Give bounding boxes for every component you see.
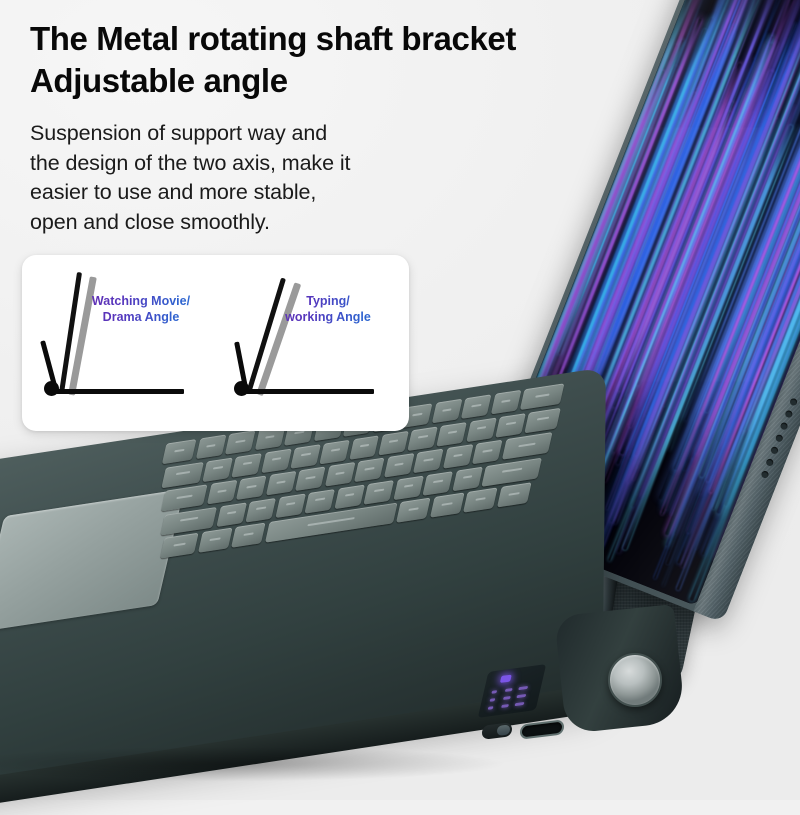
keyboard-key[interactable] (472, 440, 503, 465)
keyboard-key[interactable] (225, 430, 256, 455)
label-movie-line2: Drama Angle (103, 310, 180, 324)
keyboard-key[interactable] (160, 533, 199, 559)
keyboard-key[interactable] (363, 480, 394, 505)
backlight-glyph (491, 690, 497, 694)
marketing-copy: The Metal rotating shaft bracket Adjusta… (30, 18, 650, 237)
backlight-glyph (503, 696, 511, 700)
keyboard-key[interactable] (216, 502, 247, 527)
body-line-1: Suspension of support way and (30, 119, 650, 149)
keyboard-key[interactable] (236, 475, 267, 500)
keyboard-key[interactable] (354, 458, 385, 483)
keyboard-base (0, 367, 606, 801)
keyboard-key[interactable] (413, 449, 444, 474)
keyboard-key[interactable] (198, 528, 233, 553)
diagram-typing-working-angle: Typing/ working Angle (218, 255, 408, 431)
keyboard-key[interactable] (378, 430, 408, 455)
body-line-2: the design of the two axis, make it (30, 149, 650, 179)
label-typing-working-angle: Typing/ working Angle (253, 293, 403, 325)
keyboard-key[interactable] (275, 493, 306, 518)
keyboard-key[interactable] (430, 492, 465, 517)
heading-line-2: Adjustable angle (30, 60, 650, 102)
power-switch[interactable] (482, 722, 512, 740)
keyboard-key[interactable] (195, 435, 226, 460)
label-typing-line2: working Angle (285, 310, 371, 324)
keyboard-key[interactable] (495, 413, 525, 438)
backlight-glyph (515, 702, 525, 706)
label-watching-movie-angle: Watching Movie/ Drama Angle (66, 293, 216, 325)
backlight-glyph (501, 704, 509, 708)
label-movie-line1: Watching Movie/ (92, 294, 190, 308)
shaft-end-cap (608, 653, 662, 707)
keyboard-key[interactable] (203, 457, 233, 482)
product-feature-banner: The Metal rotating shaft bracket Adjusta… (0, 0, 800, 800)
backlight-glyph (488, 706, 494, 710)
body-line-4: open and close smoothly. (30, 208, 650, 238)
keyboard-key[interactable] (295, 466, 326, 491)
keyboard-key[interactable] (490, 390, 521, 415)
keyboard-key[interactable] (408, 426, 438, 451)
keyboard-key[interactable] (520, 383, 565, 410)
keyboard-key[interactable] (466, 417, 496, 442)
power-switch-nub (497, 724, 510, 736)
keyboard-key[interactable] (431, 399, 462, 424)
keyboard-key[interactable] (461, 394, 492, 419)
body-copy: Suspension of support way and the design… (30, 119, 650, 237)
keyboard-key[interactable] (349, 435, 379, 460)
body-line-3: easier to use and more stable, (30, 178, 650, 208)
keyboard-key[interactable] (452, 466, 483, 491)
keyboard-key[interactable] (206, 480, 237, 505)
keyboard-key[interactable] (245, 497, 276, 522)
keyboard-key[interactable] (497, 482, 532, 507)
keyboard-key[interactable] (463, 487, 498, 512)
angle-diagram-card: Watching Movie/ Drama Angle Typing/ work… (22, 255, 409, 431)
label-typing-line1: Typing/ (306, 294, 350, 308)
keyboard-key[interactable] (231, 523, 266, 548)
keyboard-key[interactable] (162, 439, 197, 464)
keyboard-key[interactable] (422, 471, 453, 496)
keyboard-key[interactable] (334, 484, 365, 509)
keyboard-key[interactable] (525, 407, 561, 433)
backlight-led (500, 675, 512, 683)
backlight-glyph (516, 694, 526, 698)
backlight-glyph (518, 686, 528, 690)
base-line-movie (56, 389, 184, 394)
keyboard-key[interactable] (393, 475, 424, 500)
page-title: The Metal rotating shaft bracket Adjusta… (30, 18, 650, 102)
keyboard-key[interactable] (304, 489, 335, 514)
keyboard-key[interactable] (261, 448, 291, 473)
backlight-glyph (505, 688, 513, 692)
keyboard-key[interactable] (320, 439, 350, 464)
keyboard-key[interactable] (265, 471, 296, 496)
contact-shadow (0, 742, 600, 786)
keyboard-key[interactable] (232, 453, 262, 478)
keyboard-key[interactable] (442, 444, 473, 469)
keyboard-key[interactable] (161, 461, 203, 487)
diagram-watching-movie-angle: Watching Movie/ Drama Angle (28, 255, 218, 431)
keyboard-key[interactable] (161, 484, 208, 511)
keyboard-key[interactable] (290, 444, 320, 469)
base-line-typing (246, 389, 374, 394)
heading-line-1: The Metal rotating shaft bracket (30, 18, 650, 60)
keyboard-key[interactable] (383, 453, 414, 478)
keyboard-key[interactable] (396, 498, 431, 523)
backlight-glyph (490, 698, 496, 702)
keyboard-key[interactable] (437, 422, 467, 447)
keyboard-key[interactable] (324, 462, 355, 487)
